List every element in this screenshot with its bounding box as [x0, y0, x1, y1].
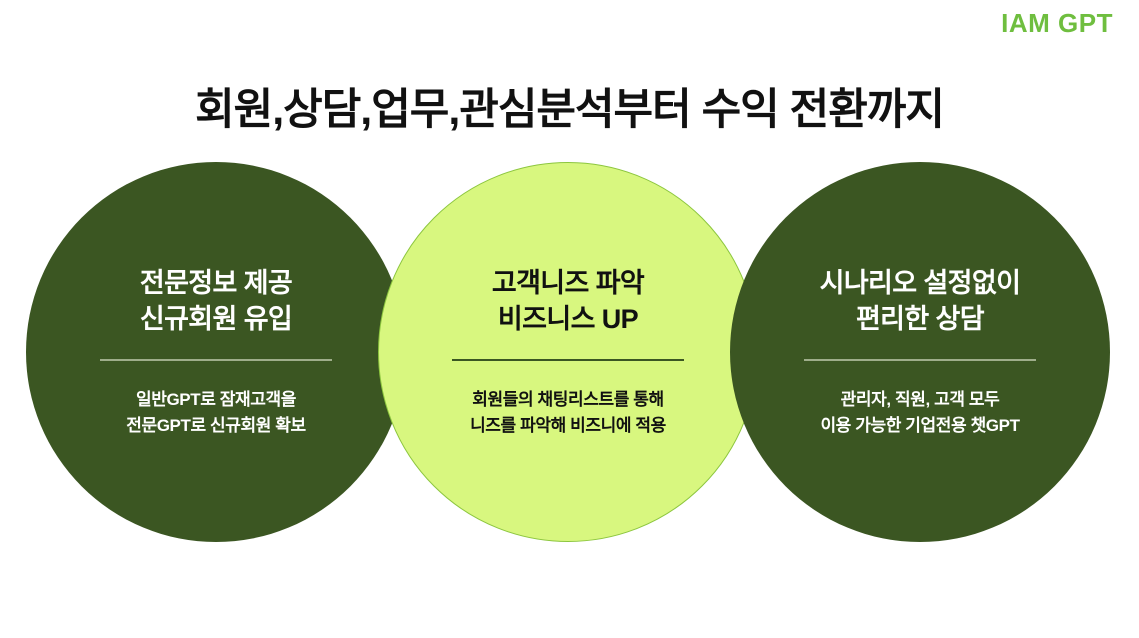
feature-circle-3: 시나리오 설정없이 편리한 상담 관리자, 직원, 고객 모두 이용 가능한 기…: [730, 162, 1110, 542]
feature-circle-3-content: 시나리오 설정없이 편리한 상담 관리자, 직원, 고객 모두 이용 가능한 기…: [730, 265, 1110, 439]
feature-circle-1: 전문정보 제공 신규회원 유입 일반GPT로 잠재고객을 전문GPT로 신규회원…: [26, 162, 406, 542]
feature-circle-3-title: 시나리오 설정없이 편리한 상담: [744, 265, 1096, 337]
feature-circle-3-divider: [804, 359, 1036, 361]
feature-circle-2-content: 고객니즈 파악 비즈니스 UP 회원들의 채팅리스트를 통해 니즈를 파악해 비…: [379, 265, 757, 439]
feature-circle-2-title: 고객니즈 파악 비즈니스 UP: [393, 265, 743, 337]
feature-circle-2-divider: [452, 359, 684, 361]
feature-circle-1-title: 전문정보 제공 신규회원 유입: [40, 265, 392, 337]
feature-circle-1-content: 전문정보 제공 신규회원 유입 일반GPT로 잠재고객을 전문GPT로 신규회원…: [26, 265, 406, 439]
feature-circle-2-body: 회원들의 채팅리스트를 통해 니즈를 파악해 비즈니에 적용: [393, 387, 743, 439]
feature-circle-3-body: 관리자, 직원, 고객 모두 이용 가능한 기업전용 챗GPT: [744, 387, 1096, 439]
feature-circle-2: 고객니즈 파악 비즈니스 UP 회원들의 채팅리스트를 통해 니즈를 파악해 비…: [378, 162, 758, 542]
slide-canvas: IAM GPT 회원,상담,업무,관심분석부터 수익 전환까지 전문정보 제공 …: [0, 0, 1139, 638]
circle-group: 전문정보 제공 신규회원 유입 일반GPT로 잠재고객을 전문GPT로 신규회원…: [0, 0, 1139, 638]
feature-circle-1-divider: [100, 359, 332, 361]
feature-circle-1-body: 일반GPT로 잠재고객을 전문GPT로 신규회원 확보: [40, 387, 392, 439]
